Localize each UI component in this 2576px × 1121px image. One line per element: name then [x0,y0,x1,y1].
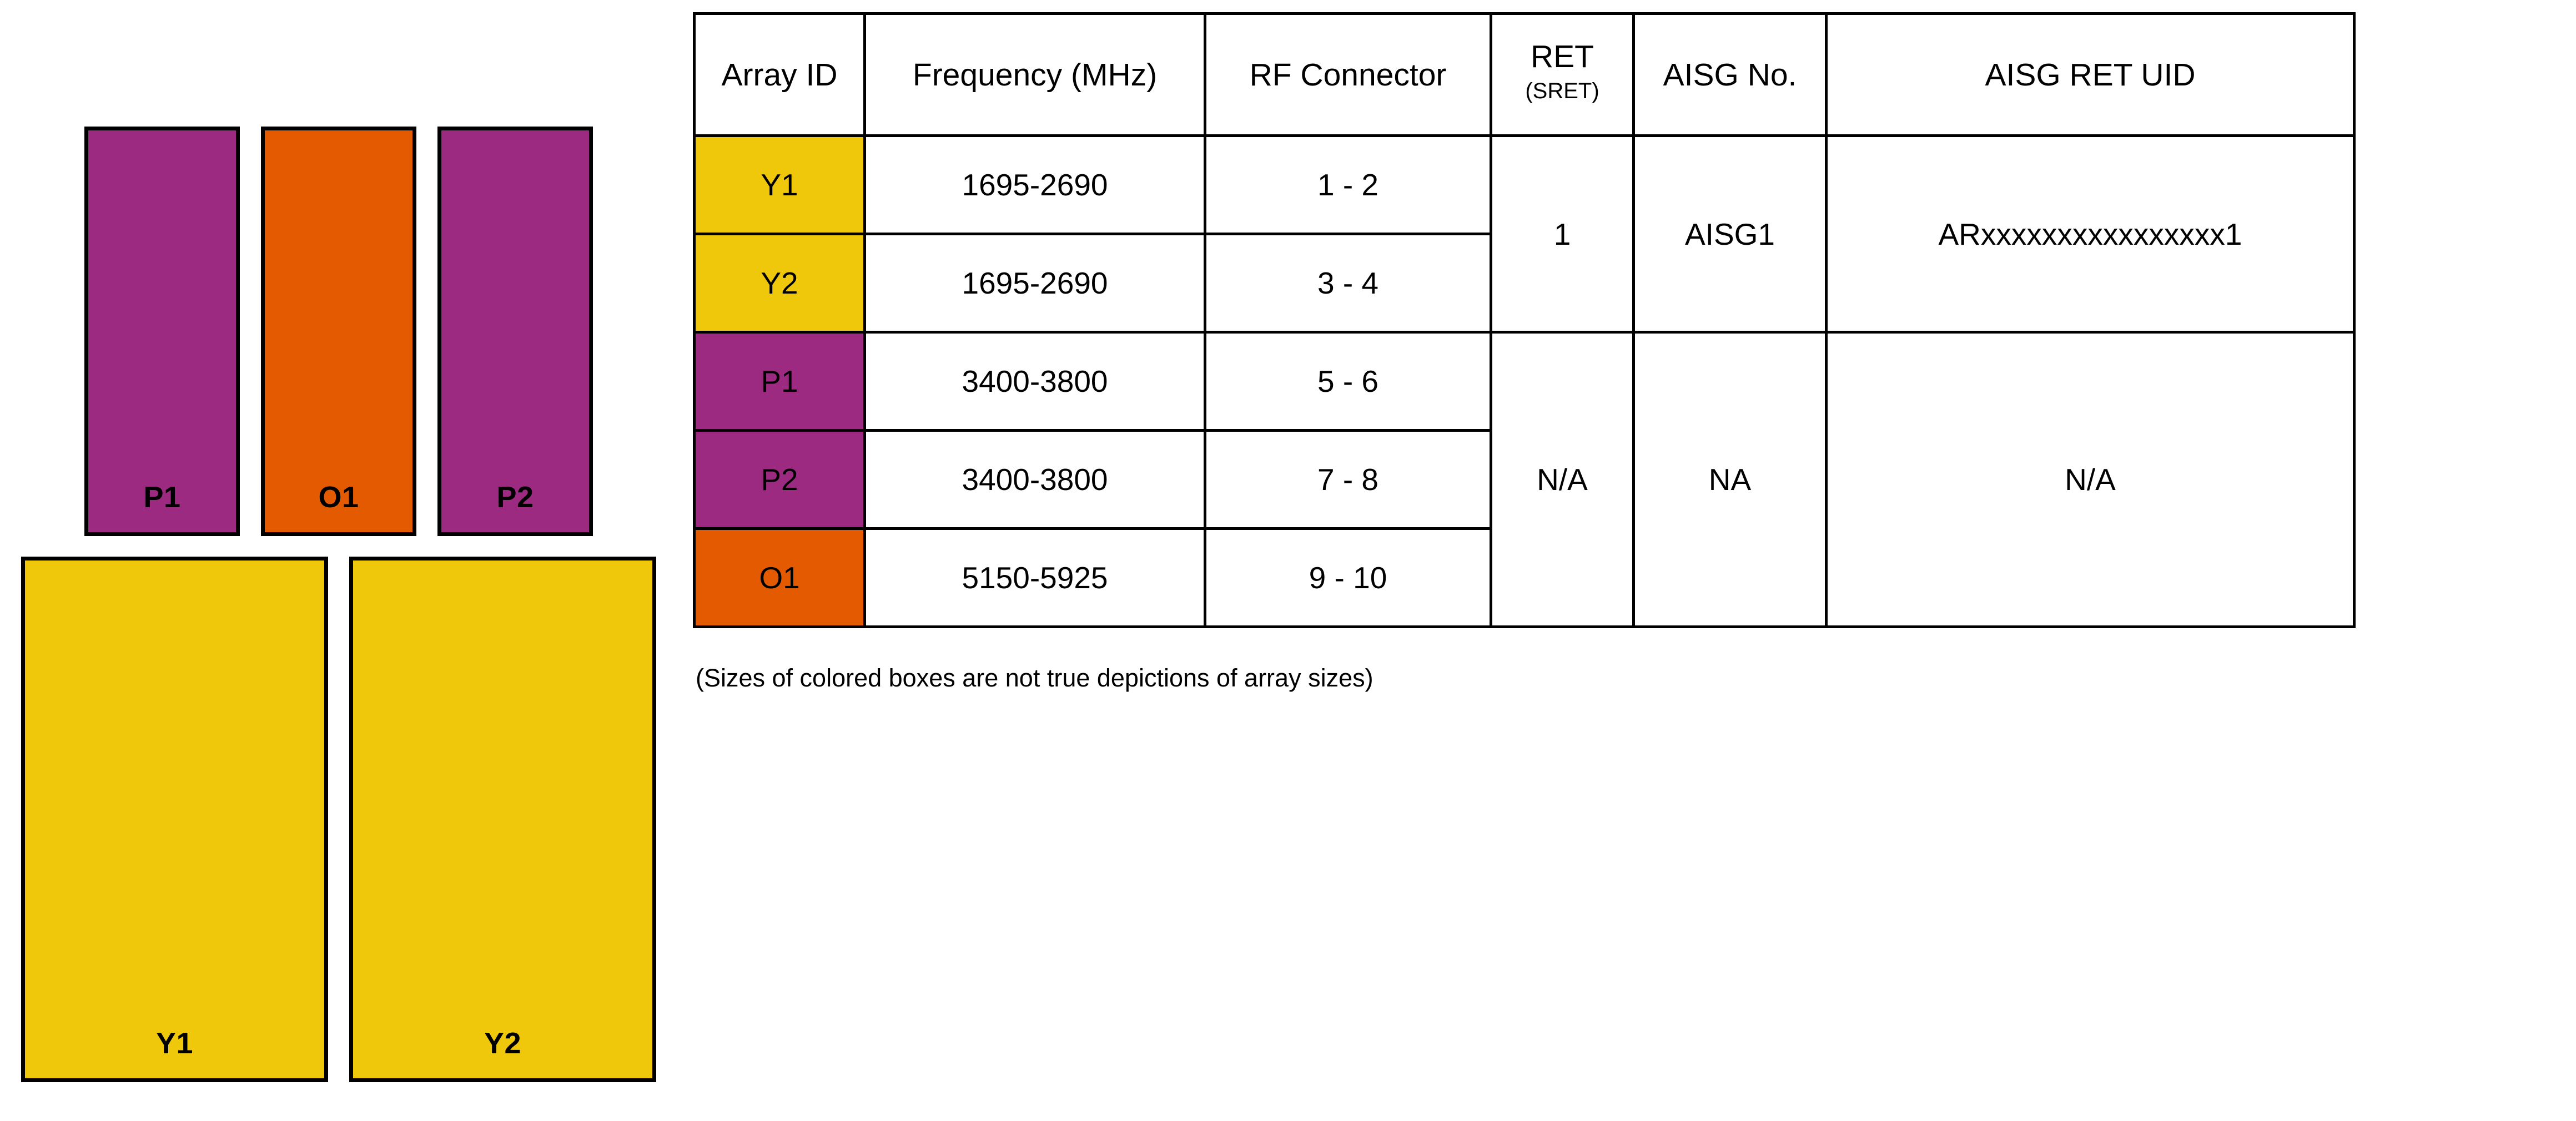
cell-array-id-o1: O1 [695,529,865,627]
array-box-label-p2: P2 [496,482,534,532]
column-header-ret-main: RET [1492,41,1632,74]
column-header-ret-sub: (SRET) [1492,73,1632,109]
cell-frequency-y1: 1695-2690 [865,136,1205,234]
cell-rf-connector-p1: 5 - 6 [1205,332,1491,431]
column-header-rf-connector: RF Connector [1205,14,1491,136]
array-box-o1: O1 [261,127,416,536]
cell-array-id-p2: P2 [695,431,865,529]
column-header-array-id: Array ID [695,14,865,136]
cell-aisg-no-group-y: AISG1 [1634,136,1827,332]
cell-ret-group-y: 1 [1491,136,1634,332]
array-box-p1: P1 [84,127,240,536]
cell-rf-connector-y1: 1 - 2 [1205,136,1491,234]
cell-aisg-ret-uid-group-y: ARxxxxxxxxxxxxxxxx1 [1827,136,2354,332]
cell-frequency-y2: 1695-2690 [865,234,1205,332]
cell-array-id-y2: Y2 [695,234,865,332]
cell-array-id-y1: Y1 [695,136,865,234]
column-header-ret: RET (SRET) [1491,14,1634,136]
column-header-aisg-ret-uid: AISG RET UID [1827,14,2354,136]
array-box-y2: Y2 [349,557,656,1082]
cell-aisg-no-group-po: NA [1634,332,1827,627]
array-box-label-o1: O1 [318,482,359,532]
array-box-label-y1: Y1 [156,1028,193,1078]
array-layout-diagram: P1 O1 P2 Y1 Y2 [0,0,672,899]
cell-aisg-ret-uid-group-po: N/A [1827,332,2354,627]
column-header-aisg-no: AISG No. [1634,14,1827,136]
diagram-page: P1 O1 P2 Y1 Y2 Ar [0,0,2576,1121]
array-box-y1: Y1 [21,557,328,1082]
array-box-label-y2: Y2 [484,1028,521,1078]
table-row: Y1 1695-2690 1 - 2 1 AISG1 ARxxxxxxxxxxx… [695,136,2354,234]
diagram-caption: (Sizes of colored boxes are not true dep… [696,664,1373,693]
cell-ret-group-po: N/A [1491,332,1634,627]
column-header-frequency: Frequency (MHz) [865,14,1205,136]
cell-rf-connector-o1: 9 - 10 [1205,529,1491,627]
cell-array-id-p1: P1 [695,332,865,431]
table-header-row: Array ID Frequency (MHz) RF Connector RE… [695,14,2354,136]
array-box-label-p1: P1 [143,482,180,532]
array-spec-table: Array ID Frequency (MHz) RF Connector RE… [693,12,2356,628]
array-spec-table-container: Array ID Frequency (MHz) RF Connector RE… [693,12,2353,628]
cell-rf-connector-p2: 7 - 8 [1205,431,1491,529]
array-box-p2: P2 [437,127,593,536]
cell-frequency-p1: 3400-3800 [865,332,1205,431]
table-row: P1 3400-3800 5 - 6 N/A NA N/A [695,332,2354,431]
cell-rf-connector-y2: 3 - 4 [1205,234,1491,332]
cell-frequency-p2: 3400-3800 [865,431,1205,529]
cell-frequency-o1: 5150-5925 [865,529,1205,627]
